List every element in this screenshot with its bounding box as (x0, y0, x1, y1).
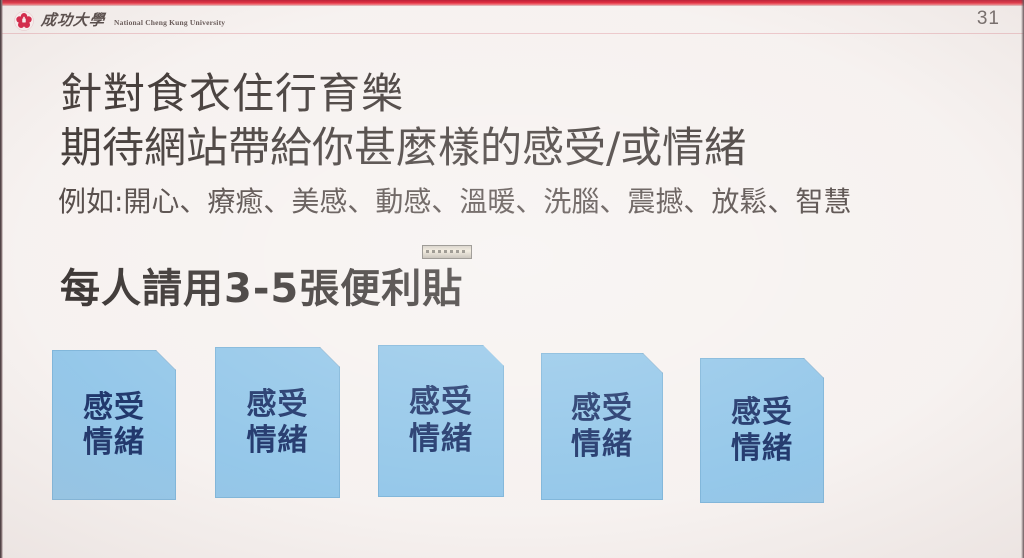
university-logo: 成功大學 National Cheng Kung University (14, 11, 225, 31)
note-line-1: 感受 (571, 391, 633, 426)
note-line-2: 情緒 (731, 431, 793, 466)
header-divider (0, 33, 1024, 34)
note-line-1: 感受 (83, 390, 145, 425)
sticky-note: 感受 情緒 (215, 347, 340, 498)
note-line-1: 感受 (731, 395, 793, 430)
presentation-slide: 成功大學 National Cheng Kung University 31 針… (0, 0, 1024, 558)
note-line-2: 情緒 (409, 421, 473, 458)
left-frame-edge (0, 0, 3, 558)
note-fold-shadow (803, 358, 824, 379)
sticky-note: 感受 情緒 (541, 353, 663, 500)
note-line-1: 感受 (247, 387, 309, 422)
note-line-1: 感受 (409, 384, 473, 421)
slide-header: 成功大學 National Cheng Kung University (0, 6, 1024, 34)
sticky-note: 感受 情緒 (700, 358, 824, 503)
logo-english-name: National Cheng Kung University (114, 18, 225, 27)
note-fold-shadow (319, 347, 340, 368)
sticky-note: 感受 情緒 (52, 350, 176, 500)
top-accent-stripe (0, 0, 1024, 6)
sticky-note: 感受 情緒 (378, 345, 504, 497)
note-fold-shadow (642, 353, 663, 374)
note-line-2: 情緒 (571, 427, 633, 462)
page-number: 31 (977, 8, 1000, 30)
note-line-2: 情緒 (247, 423, 309, 458)
plum-blossom-seal-icon (14, 11, 34, 31)
note-fold-shadow (483, 345, 504, 366)
logo-chinese-name: 成功大學 (40, 14, 106, 29)
sticky-note-row: 感受 情緒 感受 情緒 感受 情緒 感受 情緒 感受 情緒 (0, 0, 1024, 558)
note-line-2: 情緒 (83, 425, 145, 460)
note-fold-shadow (155, 350, 176, 371)
